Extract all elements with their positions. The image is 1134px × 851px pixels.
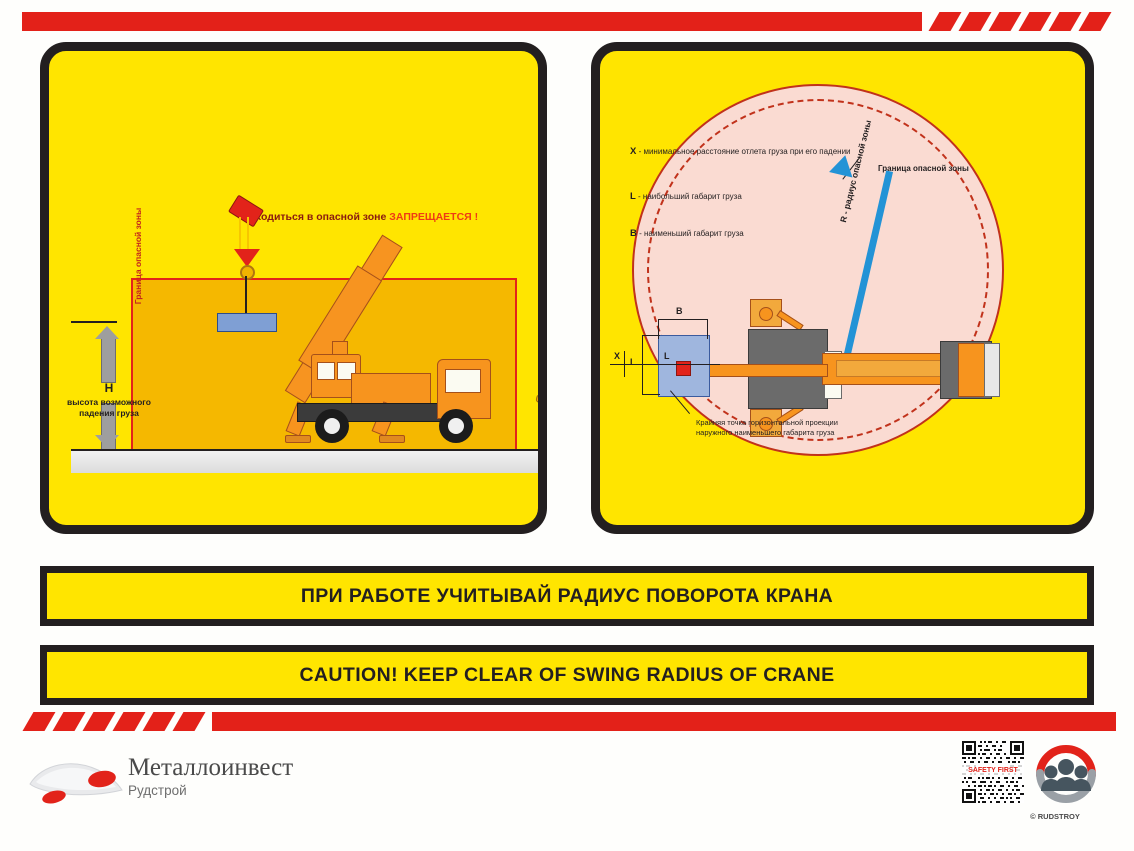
truck-wheel (315, 409, 349, 443)
ground-surface (71, 451, 541, 473)
truck-wheel (439, 409, 473, 443)
height-symbol: H (61, 381, 157, 396)
warning-text: Находиться в опасной зоне ЗАПРЕЩАЕТСЯ ! (242, 211, 478, 223)
hazard-dash (23, 712, 56, 731)
hazard-dash (143, 712, 176, 731)
hazard-bar-solid (212, 712, 1116, 731)
legend-symbol-l: L (630, 191, 636, 202)
top-hazard-bar (22, 12, 1116, 31)
dimension-line-b (658, 319, 708, 320)
bottom-hazard-bar (22, 712, 1116, 731)
dimension-label-l: L (630, 357, 636, 367)
crane-body (351, 373, 431, 405)
hazard-dash (1019, 12, 1052, 31)
metalloinvest-logo-icon (28, 750, 124, 810)
hazard-dash (173, 712, 206, 731)
dimension-tick-l-top (642, 335, 660, 336)
copyright-text: © RUDSTROY (1000, 812, 1110, 821)
plan-boom-section (836, 360, 956, 377)
dimension-tick-x (624, 351, 625, 377)
height-label: H высота возможного падения груза (61, 381, 157, 418)
warning-text-emphasis: ЗАПРЕЩАЕТСЯ ! (389, 211, 478, 223)
legend-item-x: X - минимальное расстояние отлета груза … (630, 146, 851, 159)
legend-text-x: - минимальное расстояние отлета груза пр… (639, 147, 851, 156)
outrigger-pad (379, 435, 405, 443)
qr-safety-first-caption: SAFETY FIRST (962, 764, 1024, 777)
legend-item-l: L - наибольший габарит груза (630, 191, 742, 204)
hook-pulley-icon (240, 265, 255, 280)
dimension-tick-l-bottom (642, 394, 660, 395)
legend-item-b: B - наименьший габарит груза (630, 228, 744, 241)
cab-window (317, 362, 335, 380)
hazard-dash (959, 12, 992, 31)
hazard-dash (53, 712, 86, 731)
plan-caption-line-1: Крайняя точка горизонтальной проекции (696, 418, 838, 428)
hazard-bar-solid (22, 12, 922, 31)
dimension-label-x: X (614, 351, 620, 361)
hoist-rope (247, 217, 249, 253)
legend-text-b: - наименьший габарит груза (639, 229, 744, 238)
horizontal-axis-line (610, 364, 720, 365)
hazard-dash (929, 12, 962, 31)
brand-subname: Рудстрой (128, 783, 293, 798)
plan-caption-line-2: наружного наименьшего габарита груза (696, 428, 838, 438)
hazard-dash (83, 712, 116, 731)
height-reference-line (71, 321, 117, 323)
hazard-dash (1049, 12, 1082, 31)
height-arrow-up-shaft (101, 336, 116, 383)
banner-english: CAUTION! KEEP CLEAR OF SWING RADIUS OF C… (40, 645, 1094, 705)
safety-poster: Находиться в опасной зоне ЗАПРЕЩАЕТСЯ ! … (0, 0, 1134, 851)
plan-truck-front (984, 343, 1000, 397)
panel-elevation-view: Находиться в опасной зоне ЗАПРЕЩАЕТСЯ ! … (40, 42, 547, 534)
hazard-dash (989, 12, 1022, 31)
panel-plan-view: X - минимальное расстояние отлета груза … (591, 42, 1094, 534)
sling-cable (245, 276, 247, 316)
legend-text-l: - наибольший габарит груза (638, 192, 742, 201)
hoist-rope (239, 217, 241, 253)
outrigger-pad (285, 435, 311, 443)
banner-english-text: CAUTION! KEEP CLEAR OF SWING RADIUS OF C… (299, 664, 834, 687)
banner-russian: ПРИ РАБОТЕ УЧИТЫВАЙ РАДИУС ПОВОРОТА КРАН… (40, 566, 1094, 626)
plan-boom-extension (696, 364, 828, 377)
legend-symbol-b: B (630, 228, 637, 239)
suspended-load (217, 313, 277, 332)
truck-window (445, 369, 481, 393)
height-arrow-up-head (95, 326, 119, 339)
safety-first-people-icon (1034, 741, 1098, 803)
brand-name: Металлоинвест (128, 755, 293, 781)
hazard-dash (113, 712, 146, 731)
height-arrow-down-head (95, 435, 119, 448)
legend-symbol-x: X (630, 146, 636, 157)
danger-zone-label: Граница опасной зоны (133, 191, 143, 321)
dimension-tick-b-right (707, 319, 708, 339)
plan-caption: Крайняя точка горизонтальной проекции на… (696, 418, 838, 438)
warning-text-prefix: Находиться в опасной зоне (242, 211, 389, 223)
brand-block: Металлоинвест Рудстрой (128, 755, 293, 798)
dimension-label-l-axis: L (664, 351, 670, 361)
height-description: высота возможного падения груза (67, 397, 151, 418)
banner-russian-text: ПРИ РАБОТЕ УЧИТЫВАЙ РАДИУС ПОВОРОТА КРАН… (301, 585, 833, 608)
hazard-dash (1079, 12, 1112, 31)
worker-arm (535, 394, 547, 406)
dimension-label-b: B (676, 306, 683, 316)
